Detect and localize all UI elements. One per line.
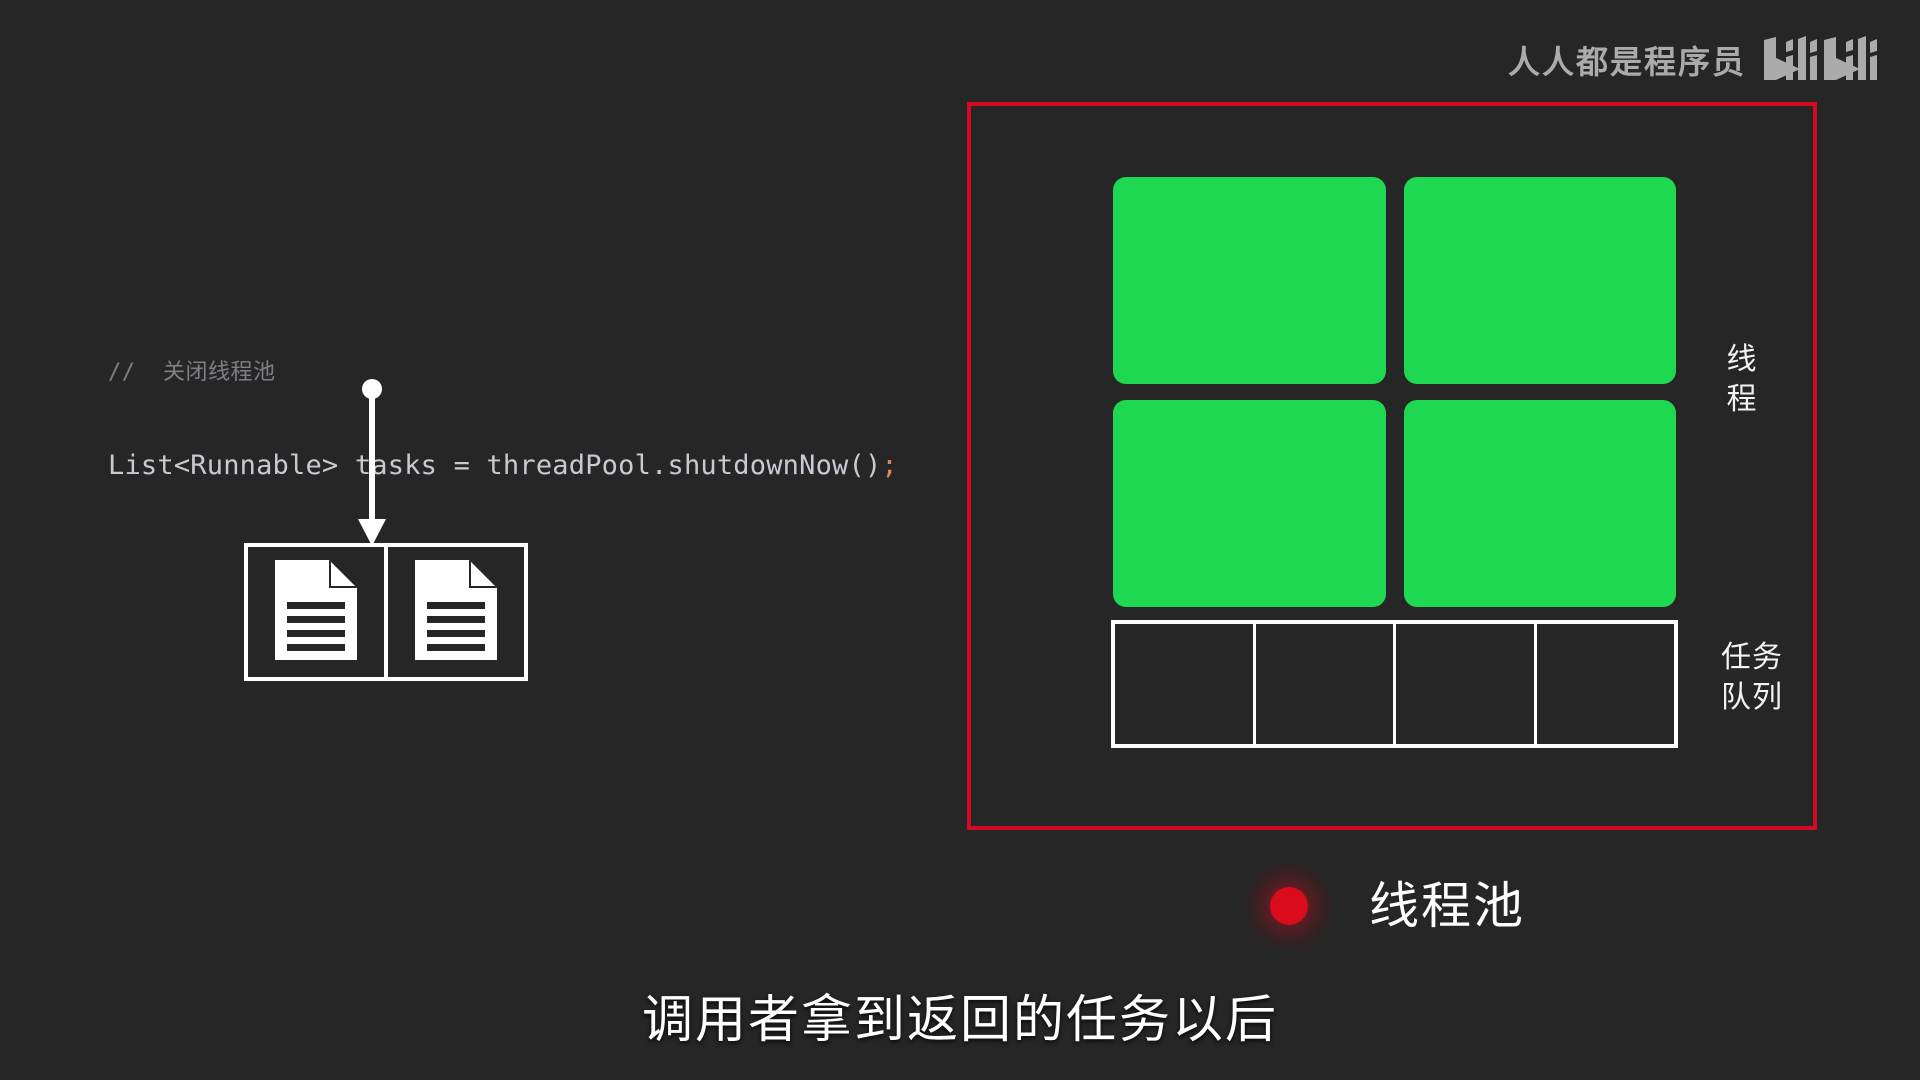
task-queue-slot xyxy=(1396,624,1537,744)
channel-watermark: 人人都是程序员 xyxy=(1508,36,1886,87)
thread-block xyxy=(1113,400,1386,607)
task-queue-label-line-2: 队列 xyxy=(1712,678,1792,718)
code-statement-text: List<Runnable> tasks = threadPool.shutdo… xyxy=(108,450,881,481)
task-queue-slot xyxy=(1537,624,1675,744)
task-queue-label: 任务 队列 xyxy=(1712,638,1792,717)
returned-task-cell xyxy=(388,547,524,677)
code-statement-line: List<Runnable> tasks = threadPool.shutdo… xyxy=(108,445,898,487)
returned-tasks-box xyxy=(244,543,528,681)
task-queue-slot xyxy=(1115,624,1256,744)
task-queue-label-line-1: 任务 xyxy=(1712,638,1792,678)
legend: 线程池 xyxy=(1245,862,1525,950)
return-arrow-icon xyxy=(355,378,389,555)
task-queue-slot xyxy=(1256,624,1397,744)
subtitle-caption: 调用者拿到返回的任务以后 xyxy=(0,978,1920,1052)
thread-label-char-2: 程 xyxy=(1722,380,1762,420)
code-comment-line: // 关闭线程池 xyxy=(108,356,898,390)
document-icon xyxy=(413,558,499,667)
thread-block xyxy=(1404,177,1677,384)
legend-label-text: 线程池 xyxy=(1369,881,1525,931)
task-queue-row xyxy=(1111,620,1678,748)
code-snippet: // 关闭线程池 List<Runnable> tasks = threadPo… xyxy=(108,306,898,537)
red-dot-icon xyxy=(1270,887,1308,925)
code-statement-terminator: ; xyxy=(881,450,897,481)
watermark-channel-name: 人人都是程序员 xyxy=(1508,46,1746,78)
thread-label: 线 程 xyxy=(1722,340,1762,419)
returned-task-cell xyxy=(248,547,388,677)
thread-grid xyxy=(1113,177,1676,607)
video-frame: 人人都是程序员 xyxy=(0,0,1920,1080)
bilibili-logo-icon xyxy=(1762,36,1886,87)
thread-label-char-1: 线 xyxy=(1722,340,1762,380)
thread-block xyxy=(1113,177,1386,384)
legend-marker xyxy=(1245,862,1333,950)
thread-block xyxy=(1404,400,1677,607)
document-icon xyxy=(273,558,359,667)
